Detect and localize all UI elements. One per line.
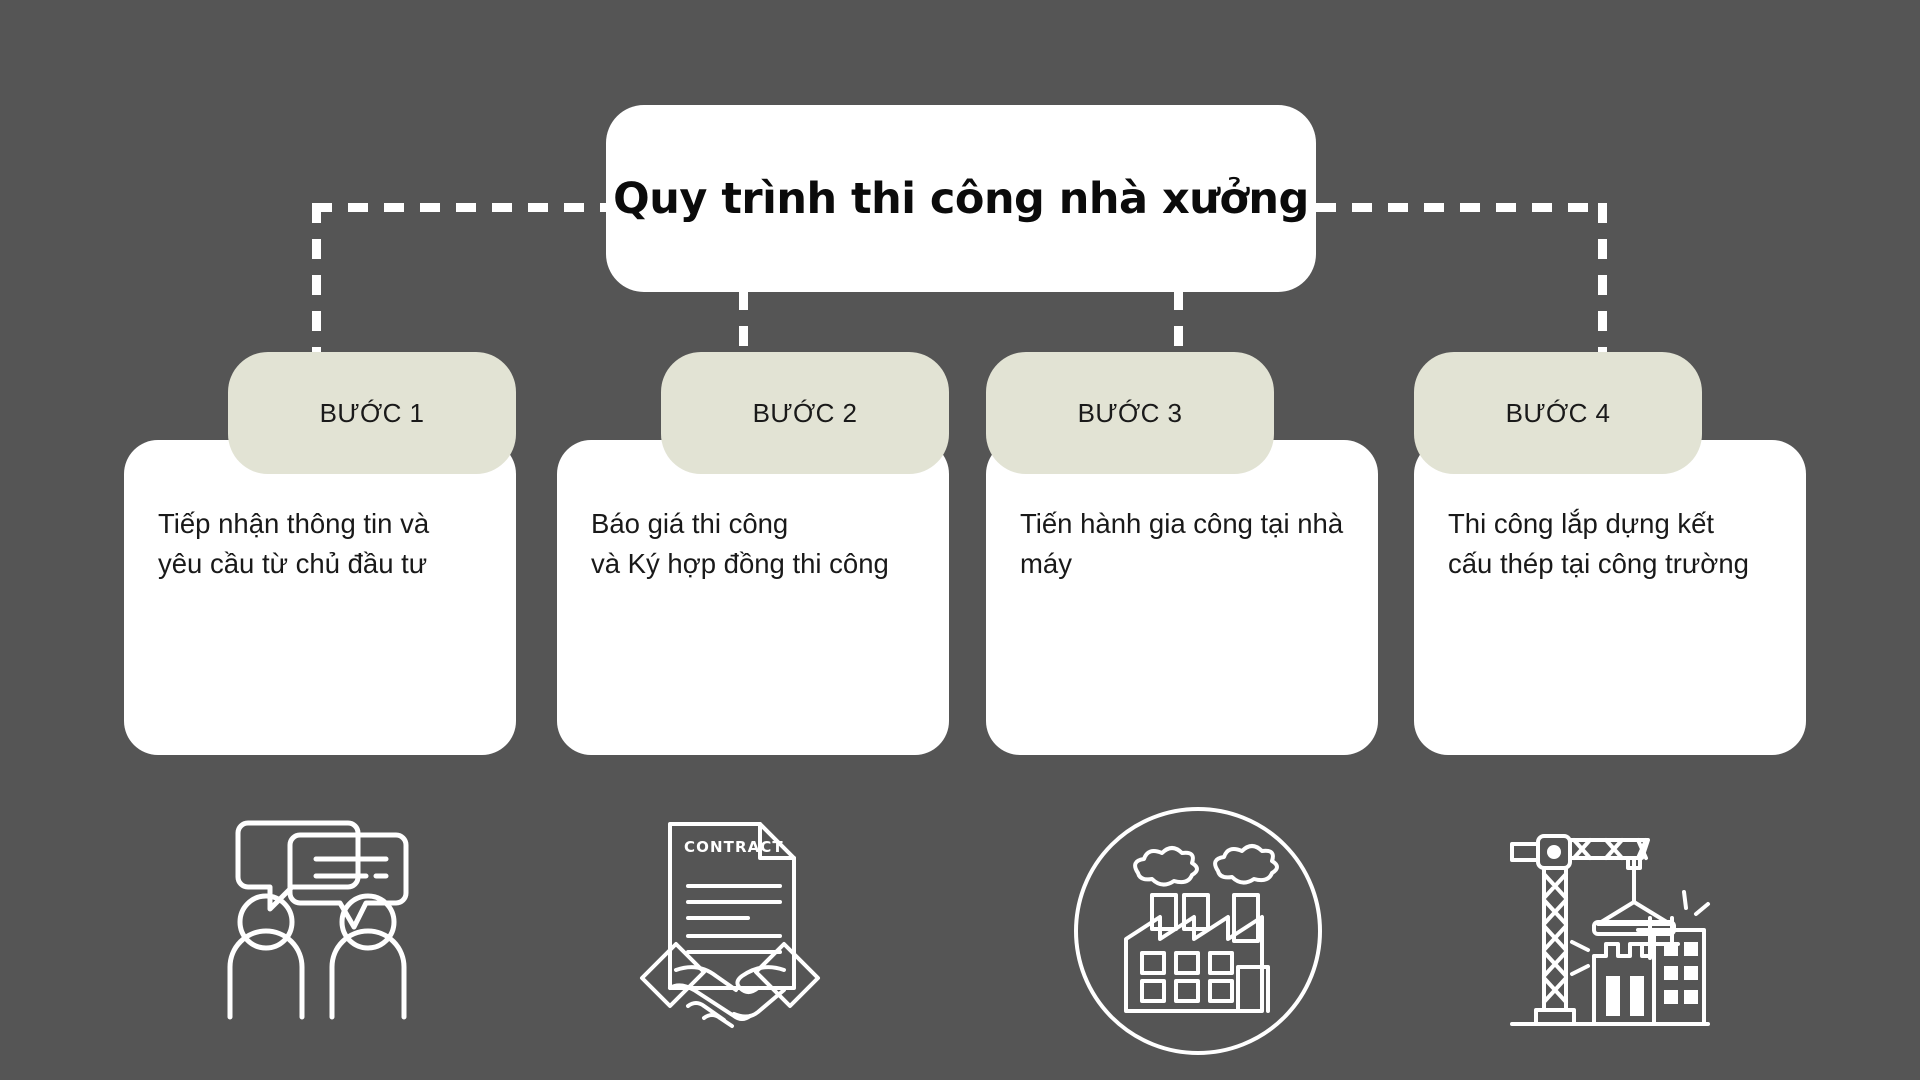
infographic-canvas: Quy trình thi công nhà xưởng Tiếp nhận t… <box>0 0 1920 1080</box>
step-body-text-4: Thi công lắp dựng kết cấu thép tại công … <box>1448 504 1772 584</box>
step-header-pill-2[interactable]: BƯỚC 2 <box>661 352 949 474</box>
step-body-card-4: Thi công lắp dựng kết cấu thép tại công … <box>1414 440 1806 755</box>
connector-step1-vertical <box>312 203 321 363</box>
step-header-label-2: BƯỚC 2 <box>753 398 858 429</box>
step-header-pill-3[interactable]: BƯỚC 3 <box>986 352 1274 474</box>
step-body-card-2: Báo giá thi công và Ký hợp đồng thi công <box>557 440 949 755</box>
step-body-text-3: Tiến hành gia công tại nhà máy <box>1020 504 1344 584</box>
step-icon-slot-4 <box>1506 818 1714 1032</box>
step-body-card-3: Tiến hành gia công tại nhà máy <box>986 440 1378 755</box>
step-icon-slot-1 <box>218 812 428 1030</box>
connector-left-horizontal <box>312 203 612 212</box>
factory-circle-icon <box>1072 805 1324 1057</box>
page-title: Quy trình thi công nhà xưởng <box>613 174 1309 224</box>
step-header-label-3: BƯỚC 3 <box>1078 398 1183 429</box>
step-header-pill-1[interactable]: BƯỚC 1 <box>228 352 516 474</box>
step-header-pill-4[interactable]: BƯỚC 4 <box>1414 352 1702 474</box>
connector-right-horizontal <box>1316 203 1607 212</box>
step-header-label-1: BƯỚC 1 <box>320 398 425 429</box>
crane-building-icon <box>1506 818 1714 1032</box>
people-speech-bubbles-icon <box>218 812 428 1030</box>
contract-handshake-icon: CONTRACT <box>630 818 830 1030</box>
step-body-text-1: Tiếp nhận thông tin và yêu cầu từ chủ đầ… <box>158 504 482 584</box>
step-body-card-1: Tiếp nhận thông tin và yêu cầu từ chủ đầ… <box>124 440 516 755</box>
diagram-title-card: Quy trình thi công nhà xưởng <box>606 105 1316 292</box>
step-header-label-4: BƯỚC 4 <box>1506 398 1611 429</box>
step-icon-slot-2: CONTRACT <box>630 818 830 1030</box>
step-icon-slot-3 <box>1072 805 1324 1057</box>
connector-step4-vertical <box>1598 203 1607 363</box>
step-body-text-2: Báo giá thi công và Ký hợp đồng thi công <box>591 504 915 584</box>
contract-icon-label: CONTRACT <box>684 838 784 856</box>
